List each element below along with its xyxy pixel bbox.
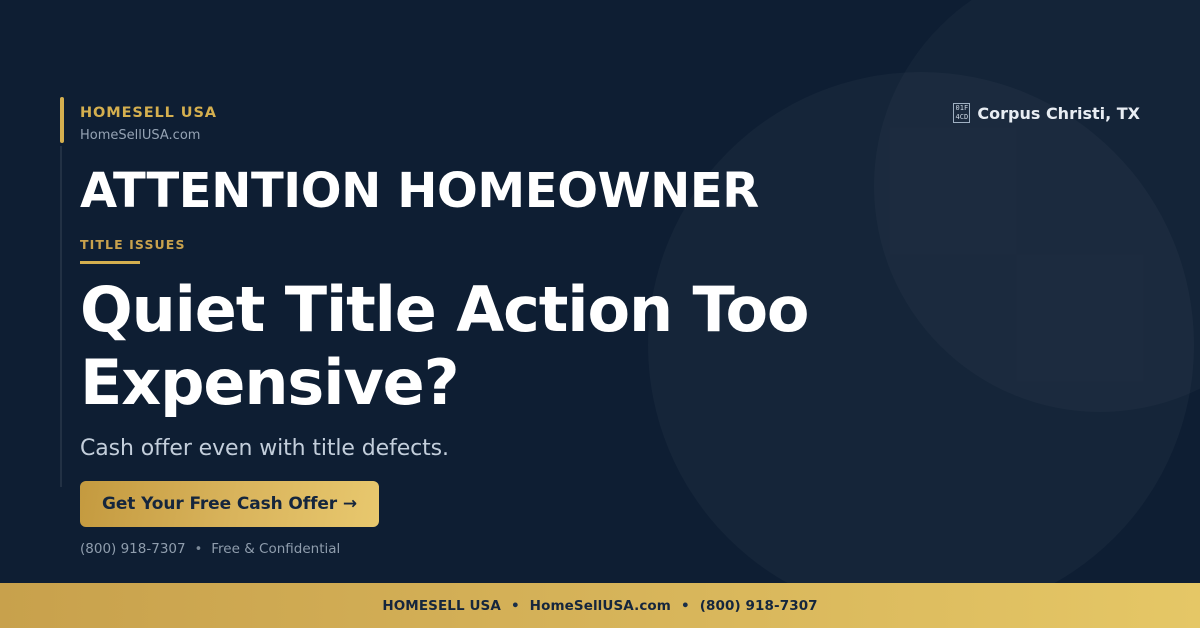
subheadline: Cash offer even with title defects. (80, 436, 449, 461)
eyebrow-underline (80, 261, 140, 264)
brand-name: HOMESELL USA (80, 104, 217, 124)
vertical-divider-rail (60, 146, 62, 487)
contact-assurance: Free & Confidential (211, 541, 340, 557)
decorative-circle-small (874, 0, 1200, 412)
footer-phone[interactable]: (800) 918-7307 (700, 598, 818, 614)
location-label: Corpus Christi, TX (977, 104, 1140, 123)
footer-website[interactable]: HomeSellUSA.com (530, 598, 671, 614)
attention-headline: ATTENTION HOMEOWNER (80, 163, 759, 219)
footer-separator-two: • (681, 598, 690, 614)
gold-accent-rail (60, 97, 64, 143)
brand-website: HomeSellUSA.com (80, 126, 217, 147)
footer-separator-one: • (511, 598, 520, 614)
promotional-banner: HOMESELL USA HomeSellUSA.com 01F 4CD Cor… (0, 0, 1200, 628)
footer-bar: HOMESELL USA • HomeSellUSA.com • (800) 9… (0, 583, 1200, 628)
brand-block: HOMESELL USA HomeSellUSA.com (80, 104, 217, 146)
footer-brand: HOMESELL USA (382, 598, 501, 614)
contact-line: (800) 918-7307 • Free & Confidential (80, 541, 340, 557)
eyebrow-block: TITLE ISSUES (80, 237, 186, 264)
eyebrow-label: TITLE ISSUES (80, 237, 186, 252)
contact-phone[interactable]: (800) 918-7307 (80, 541, 186, 557)
contact-separator: • (195, 542, 203, 557)
map-pin-icon-codepoint-bottom: 4CD (954, 113, 969, 122)
location-badge: 01F 4CD Corpus Christi, TX (953, 103, 1140, 123)
map-pin-icon: 01F 4CD (953, 103, 970, 123)
map-pin-icon-codepoint-top: 01F (954, 104, 969, 113)
page-title: Quiet Title Action Too Expensive? (80, 274, 910, 419)
get-free-cash-offer-button[interactable]: Get Your Free Cash Offer → (80, 481, 379, 527)
